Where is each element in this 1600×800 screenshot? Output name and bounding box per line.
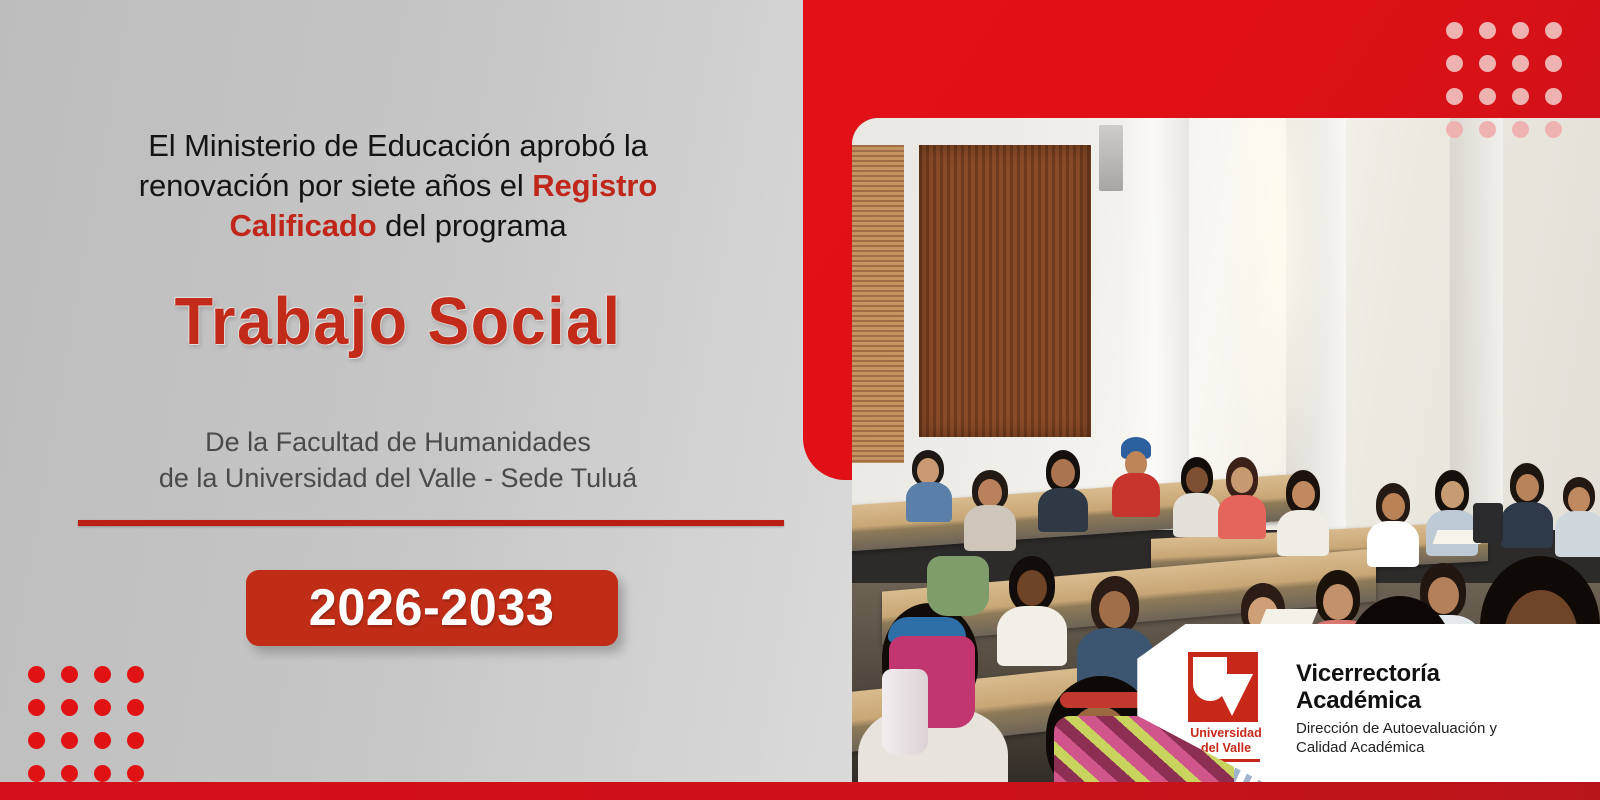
dot [61, 699, 78, 716]
department-name-line-1: Dirección de Autoevaluación y [1296, 719, 1586, 738]
photo-notebook [1260, 609, 1318, 625]
dot [1446, 22, 1463, 39]
photo-calculator [1473, 503, 1503, 543]
year-range-label: 2026-2033 [309, 578, 555, 638]
dot [61, 765, 78, 782]
dot [1479, 121, 1496, 138]
dot [61, 666, 78, 683]
dot [94, 699, 111, 716]
dot [1479, 88, 1496, 105]
dot-grid-bottom-left [28, 666, 144, 782]
dot [1446, 88, 1463, 105]
dot [1545, 22, 1562, 39]
dot [28, 666, 45, 683]
office-name-line-1: Vicerrectoría [1296, 660, 1586, 687]
dot [1479, 55, 1496, 72]
dot [94, 732, 111, 749]
dot [1545, 88, 1562, 105]
dot [1446, 55, 1463, 72]
dot [127, 666, 144, 683]
headline: El Ministerio de Educación aprobó la ren… [78, 126, 718, 246]
headline-part2: del programa [377, 208, 567, 243]
promotional-banner: El Ministerio de Educación aprobó la ren… [0, 0, 1600, 800]
department-name-line-2: Calidad Académica [1296, 738, 1586, 757]
photo-window-blinds [852, 145, 904, 464]
subtitle-line-1: De la Facultad de Humanidades [78, 424, 718, 460]
dot [94, 765, 111, 782]
divider-rule [78, 520, 784, 526]
dot [127, 699, 144, 716]
dot [61, 732, 78, 749]
dot [28, 765, 45, 782]
subtitle-line-2: de la Universidad del Valle - Sede Tuluá [78, 460, 718, 496]
subtitle: De la Facultad de Humanidades de la Univ… [78, 424, 718, 496]
bottom-red-strip [0, 782, 1600, 800]
dot [1446, 121, 1463, 138]
dot [127, 765, 144, 782]
dot-grid-top-right [1446, 22, 1562, 138]
dot [1479, 22, 1496, 39]
year-range-badge: 2026-2033 [246, 570, 618, 646]
dot [1512, 55, 1529, 72]
program-title: Trabajo Social [97, 284, 699, 360]
univalle-v-shape [1211, 674, 1253, 716]
dot [94, 666, 111, 683]
photo-wall-column [1450, 118, 1502, 530]
univalle-wordmark-line-1: Universidad [1188, 726, 1264, 741]
photo-speaker [1099, 125, 1123, 191]
dot [28, 732, 45, 749]
dot [1545, 55, 1562, 72]
dot [1512, 88, 1529, 105]
univalle-logo-mark-icon [1188, 652, 1258, 722]
office-name: Vicerrectoría Académica [1296, 660, 1586, 714]
univalle-logo: Universidad del Valle [1188, 652, 1264, 762]
dot [28, 699, 45, 716]
office-text-block: Vicerrectoría Académica Dirección de Aut… [1296, 660, 1586, 757]
department-name: Dirección de Autoevaluación y Calidad Ac… [1296, 719, 1586, 757]
dot [1512, 22, 1529, 39]
photo-wood-panel [919, 145, 1091, 437]
photo-backpack [927, 556, 989, 616]
dot [1545, 121, 1562, 138]
photo-water-bottle [882, 669, 928, 755]
dot [127, 732, 144, 749]
dot [1512, 121, 1529, 138]
office-name-line-2: Académica [1296, 687, 1586, 714]
